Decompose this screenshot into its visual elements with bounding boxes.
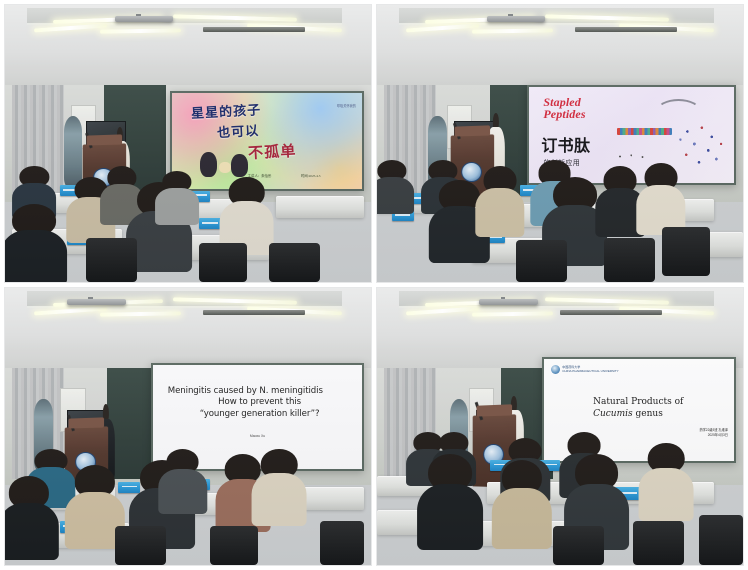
ceiling-light xyxy=(34,307,107,316)
desk-name-card xyxy=(118,482,140,493)
university-logo: 中国药科大学 CHINA PHARMACEUTICAL UNIVERSITY xyxy=(551,365,618,374)
audience-member xyxy=(9,476,49,554)
slide-title-line-1: 星星的孩子 xyxy=(190,100,261,123)
ceiling-light xyxy=(100,29,181,34)
photo-panel-bottom-right[interactable]: 中国药科大学 CHINA PHARMACEUTICAL UNIVERSITY N… xyxy=(376,287,744,566)
air-conditioner-vent xyxy=(560,310,662,315)
chair xyxy=(633,521,684,565)
ceiling-projector xyxy=(487,16,546,22)
slide-title-block: Meningitis caused by N. meningitidis How… xyxy=(158,386,362,421)
ceiling-projector xyxy=(67,299,126,305)
audience-member xyxy=(428,454,472,543)
audience-member xyxy=(648,443,685,515)
classroom-scene: 呼吸关怀我的 星星的孩子 也可以 不孤单 主讲人：朱怡彤 时间:2025.4.3 xyxy=(5,5,371,282)
audience-body xyxy=(158,469,207,514)
audience-body xyxy=(491,488,551,549)
audience-member xyxy=(377,160,406,210)
audience-body xyxy=(4,503,59,560)
ceiling xyxy=(377,5,743,91)
chair xyxy=(553,526,604,565)
chair xyxy=(269,243,320,282)
slide-author-name: Maoxu Xu xyxy=(153,434,361,438)
cartoon-detail xyxy=(219,162,230,173)
photo-collage: 呼吸关怀我的 星星的孩子 也可以 不孤单 主讲人：朱怡彤 时间:2025.4.3 xyxy=(0,0,748,570)
ceiling-light xyxy=(406,307,479,316)
molecule-structure-graphic xyxy=(670,118,727,172)
university-logo-icon xyxy=(551,365,560,374)
audience-member xyxy=(604,166,637,232)
desk-name-card xyxy=(199,218,221,229)
slide-meta-date: 2025年4月3日 xyxy=(699,433,728,438)
slide-title-tail: genus xyxy=(636,409,663,419)
photo-panel-bottom-left[interactable]: Meningitis caused by N. meningitidis How… xyxy=(4,287,372,566)
audience-body xyxy=(4,230,67,283)
chair xyxy=(115,526,166,565)
audience-member xyxy=(439,180,479,258)
peptide-sequence-graphic xyxy=(617,128,672,136)
ceiling-projector xyxy=(115,16,174,22)
cartoon-child-left xyxy=(200,152,217,177)
ceiling-light xyxy=(472,29,553,34)
university-logo-text: 中国药科大学 CHINA PHARMACEUTICAL UNIVERSITY xyxy=(562,366,618,373)
audience-member xyxy=(162,171,191,221)
audience-member xyxy=(12,204,56,279)
slide-title-block: Natural Products of Cucumis genus xyxy=(593,396,730,422)
audience-member xyxy=(501,460,541,543)
photo-panel-top-right[interactable]: Stapled Peptides 订书肽 的创新应用 xyxy=(376,4,744,283)
chair xyxy=(662,227,710,277)
ceiling-projector xyxy=(479,299,538,305)
air-conditioner-vent xyxy=(203,27,305,32)
desk xyxy=(276,196,364,218)
audience-body xyxy=(475,188,524,237)
slide-title-line-2: How to prevent this xyxy=(218,397,301,407)
audience-member xyxy=(166,449,199,510)
air-conditioner-vent xyxy=(575,27,677,32)
slide-title-line-1: Meningitis caused by N. meningitidis xyxy=(158,386,362,398)
audience-body xyxy=(155,188,199,225)
audience-member xyxy=(75,465,115,543)
university-logo-line-2: CHINA PHARMACEUTICAL UNIVERSITY xyxy=(562,370,618,373)
audience-member xyxy=(483,166,516,232)
audience-member xyxy=(261,449,298,521)
classroom-scene: Stapled Peptides 订书肽 的创新应用 xyxy=(377,5,743,282)
slide-title-line-3: “younger generation killer”? xyxy=(200,409,320,419)
chair xyxy=(604,238,655,282)
slide-title-line-2: 也可以 xyxy=(217,120,260,141)
projection-screen: 呼吸关怀我的 星星的孩子 也可以 不孤单 主讲人：朱怡彤 时间:2025.4.3 xyxy=(170,91,364,191)
slide-title-line-1: Natural Products of xyxy=(593,396,730,409)
ceiling-light xyxy=(34,24,107,33)
small-molecule-graphic xyxy=(611,151,656,162)
audience-body xyxy=(376,177,414,214)
chair xyxy=(516,240,567,282)
ceiling-light xyxy=(100,312,181,317)
air-conditioner-vent xyxy=(203,310,305,315)
slide-chinese-title: 订书肽 xyxy=(541,132,590,156)
slide-meta-block: 药学22级3班 孔维泽 2025年4月3日 xyxy=(699,428,728,438)
ceiling xyxy=(5,288,371,374)
slide-english-title: Stapled Peptides xyxy=(543,96,585,120)
slide-title-line-3: 不孤单 xyxy=(247,139,297,163)
chair xyxy=(320,521,364,565)
chair xyxy=(199,243,247,282)
chair xyxy=(699,515,743,565)
slide-corner-note: 呼吸关怀我的 xyxy=(337,103,356,108)
slide-title-genus: Cucumis xyxy=(593,409,633,419)
slide-autism-awareness: 呼吸关怀我的 星星的孩子 也可以 不孤单 主讲人：朱怡彤 时间:2025.4.3 xyxy=(172,93,362,189)
ceiling xyxy=(5,5,371,91)
audience-body xyxy=(639,468,694,521)
slide-title-line-2: Cucumis genus xyxy=(593,408,730,421)
slide-date-label: 时间:2025.4.3 xyxy=(301,173,321,178)
audience-member xyxy=(228,177,265,249)
classroom-scene: Meningitis caused by N. meningitidis How… xyxy=(5,288,371,565)
ceiling-light xyxy=(472,312,553,317)
classroom-scene: 中国药科大学 CHINA PHARMACEUTICAL UNIVERSITY N… xyxy=(377,288,743,565)
photo-panel-top-left[interactable]: 呼吸关怀我的 星星的孩子 也可以 不孤单 主讲人：朱怡彤 时间:2025.4.3 xyxy=(4,4,372,283)
chair xyxy=(210,526,258,565)
audience-body xyxy=(252,473,307,526)
audience-body xyxy=(417,484,483,550)
cartoon-child-right xyxy=(231,154,248,177)
slide-english-line-2: Peptides xyxy=(543,108,585,120)
audience-member xyxy=(644,163,677,229)
ceiling-light xyxy=(406,24,479,33)
audience-member xyxy=(107,166,136,221)
chair xyxy=(86,238,137,282)
